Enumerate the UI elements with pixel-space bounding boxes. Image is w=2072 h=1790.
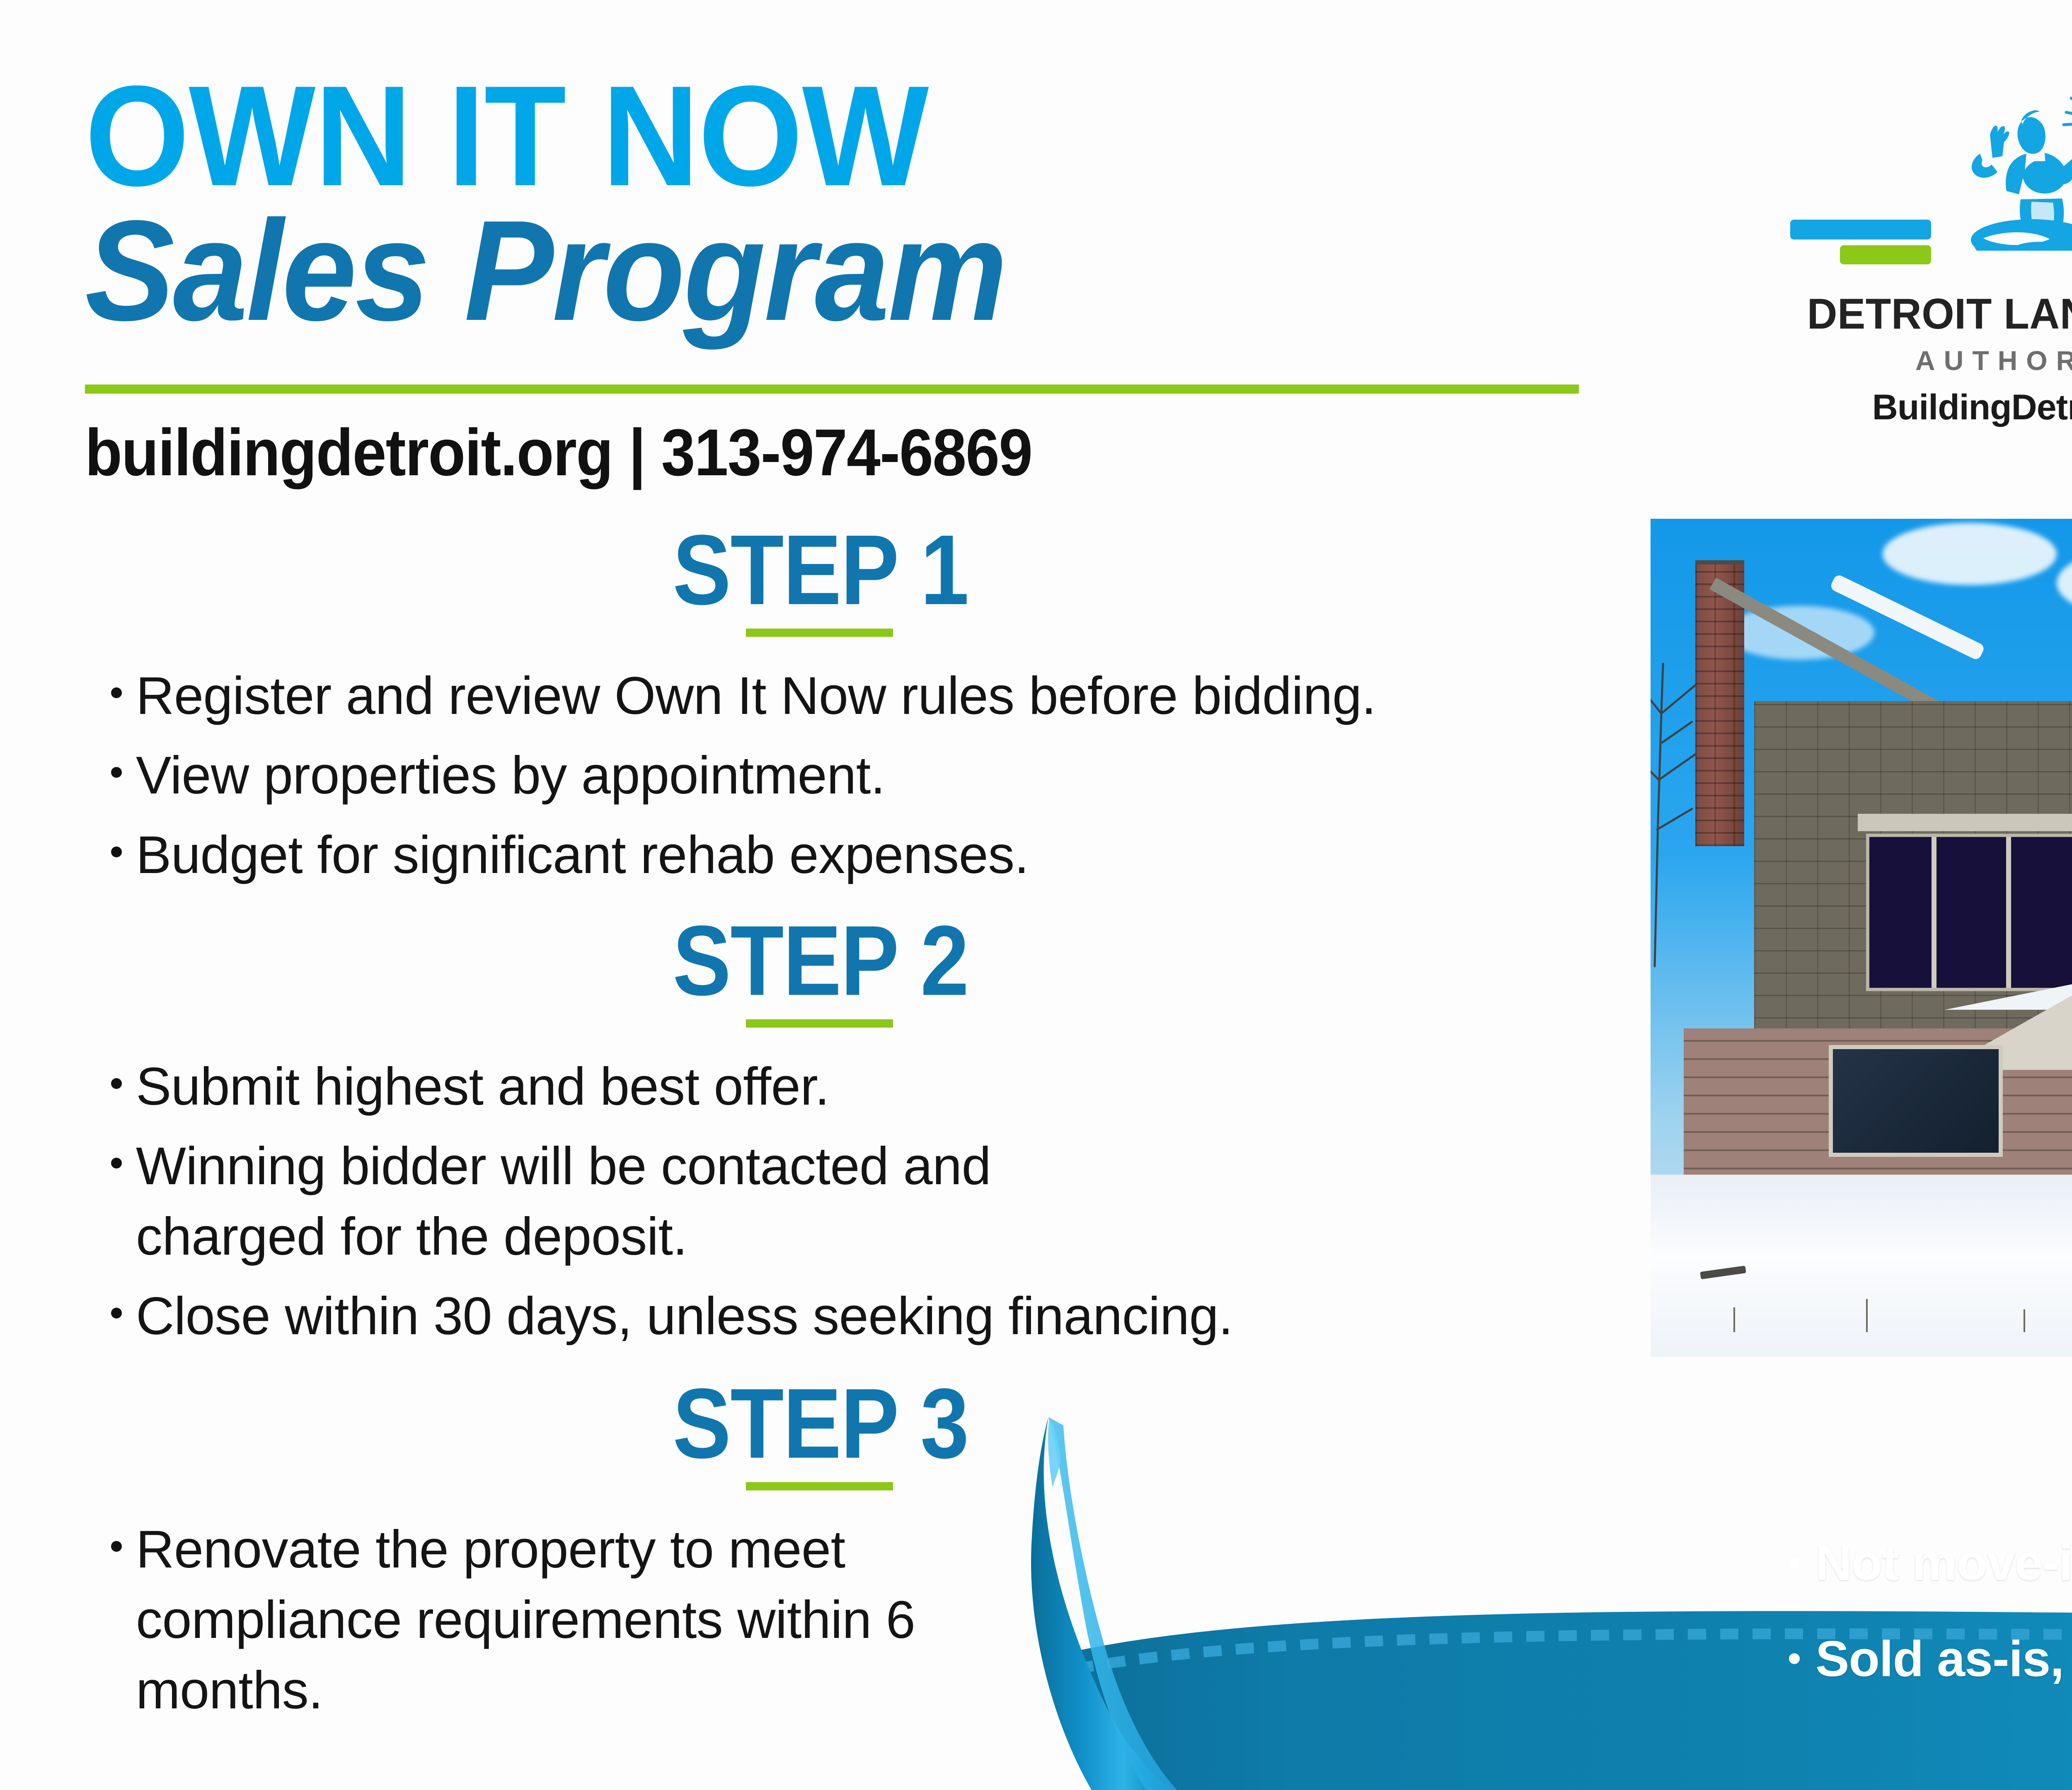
page-title-primary: OWN IT NOW	[85, 68, 1507, 204]
step-1-title: STEP 1	[565, 520, 1076, 619]
title-divider-rule	[85, 385, 1579, 394]
weed	[1866, 1299, 1868, 1332]
step-1-underline	[746, 629, 893, 637]
bottom-banner: Not move-in ready Sold as-is, where-is	[986, 1401, 2072, 1790]
list-item: Renovate the property to meet compliance…	[87, 1514, 1089, 1726]
title-block: OWN IT NOW Sales Program	[85, 68, 1598, 346]
list-item: Submit highest and best offer.	[87, 1052, 1554, 1122]
contact-info[interactable]: buildingdetroit.org | 313-974-6869	[85, 414, 1032, 491]
list-item: Budget for significant rehab expenses.	[87, 820, 1554, 890]
step-2-title: STEP 2	[565, 911, 1076, 1010]
window-mullion	[2006, 837, 2011, 988]
front-window	[1829, 1045, 2003, 1157]
logo-mark	[1794, 73, 2072, 284]
logo-organization-name: DETROIT LAND BANK	[1801, 290, 2072, 339]
logo-bar-group-left	[1790, 220, 1931, 264]
detroit-land-bank-logo: DETROIT LAND BANK AUTHORITY BuildingDetr…	[1794, 73, 2072, 428]
logo-organization-subtitle: AUTHORITY	[1802, 345, 2072, 376]
list-item: View properties by appointment.	[87, 740, 1554, 811]
window-lintel	[1858, 814, 2072, 831]
step-1: STEP 1 Register and review Own It Now ru…	[87, 520, 1554, 891]
list-item: Close within 30 days, unless seeking fin…	[87, 1281, 1554, 1352]
list-item: Winning bidder will be contacted and cha…	[87, 1131, 1180, 1272]
step-2-header: STEP 2	[530, 911, 1111, 1028]
step-2-underline	[746, 1019, 893, 1028]
logo-website-url[interactable]: BuildingDetroit.org	[1794, 387, 2072, 428]
flyer-canvas: OWN IT NOW Sales Program buildingdetroit…	[0, 0, 2072, 1790]
step-2-list: Submit highest and best offer. Winning b…	[87, 1052, 1554, 1352]
cloud	[1883, 523, 2057, 585]
step-3-underline	[746, 1482, 893, 1490]
logo-bar-green-left	[1840, 245, 1931, 264]
window-mullion	[1932, 837, 1936, 988]
list-item: Register and review Own It Now rules bef…	[87, 661, 1554, 731]
list-item: Sold as-is, where-is	[1777, 1633, 2072, 1684]
upper-window	[1866, 834, 2072, 991]
property-photo	[1651, 519, 2072, 1357]
weed	[1733, 1307, 1735, 1332]
snow-ground	[1651, 1175, 2072, 1357]
weed	[2024, 1309, 2025, 1332]
step-1-header: STEP 1	[530, 520, 1111, 637]
banner-list: Not move-in ready Sold as-is, where-is	[1777, 1537, 2072, 1684]
step-1-list: Register and review Own It Now rules bef…	[87, 661, 1554, 891]
page-title-secondary: Sales Program	[85, 197, 1507, 346]
step-2: STEP 2 Submit highest and best offer. Wi…	[87, 911, 1554, 1352]
list-item: Not move-in ready	[1777, 1537, 2072, 1588]
logo-bar-blue-left	[1790, 220, 1931, 239]
banner-text-block: Not move-in ready Sold as-is, where-is	[1777, 1537, 2072, 1730]
